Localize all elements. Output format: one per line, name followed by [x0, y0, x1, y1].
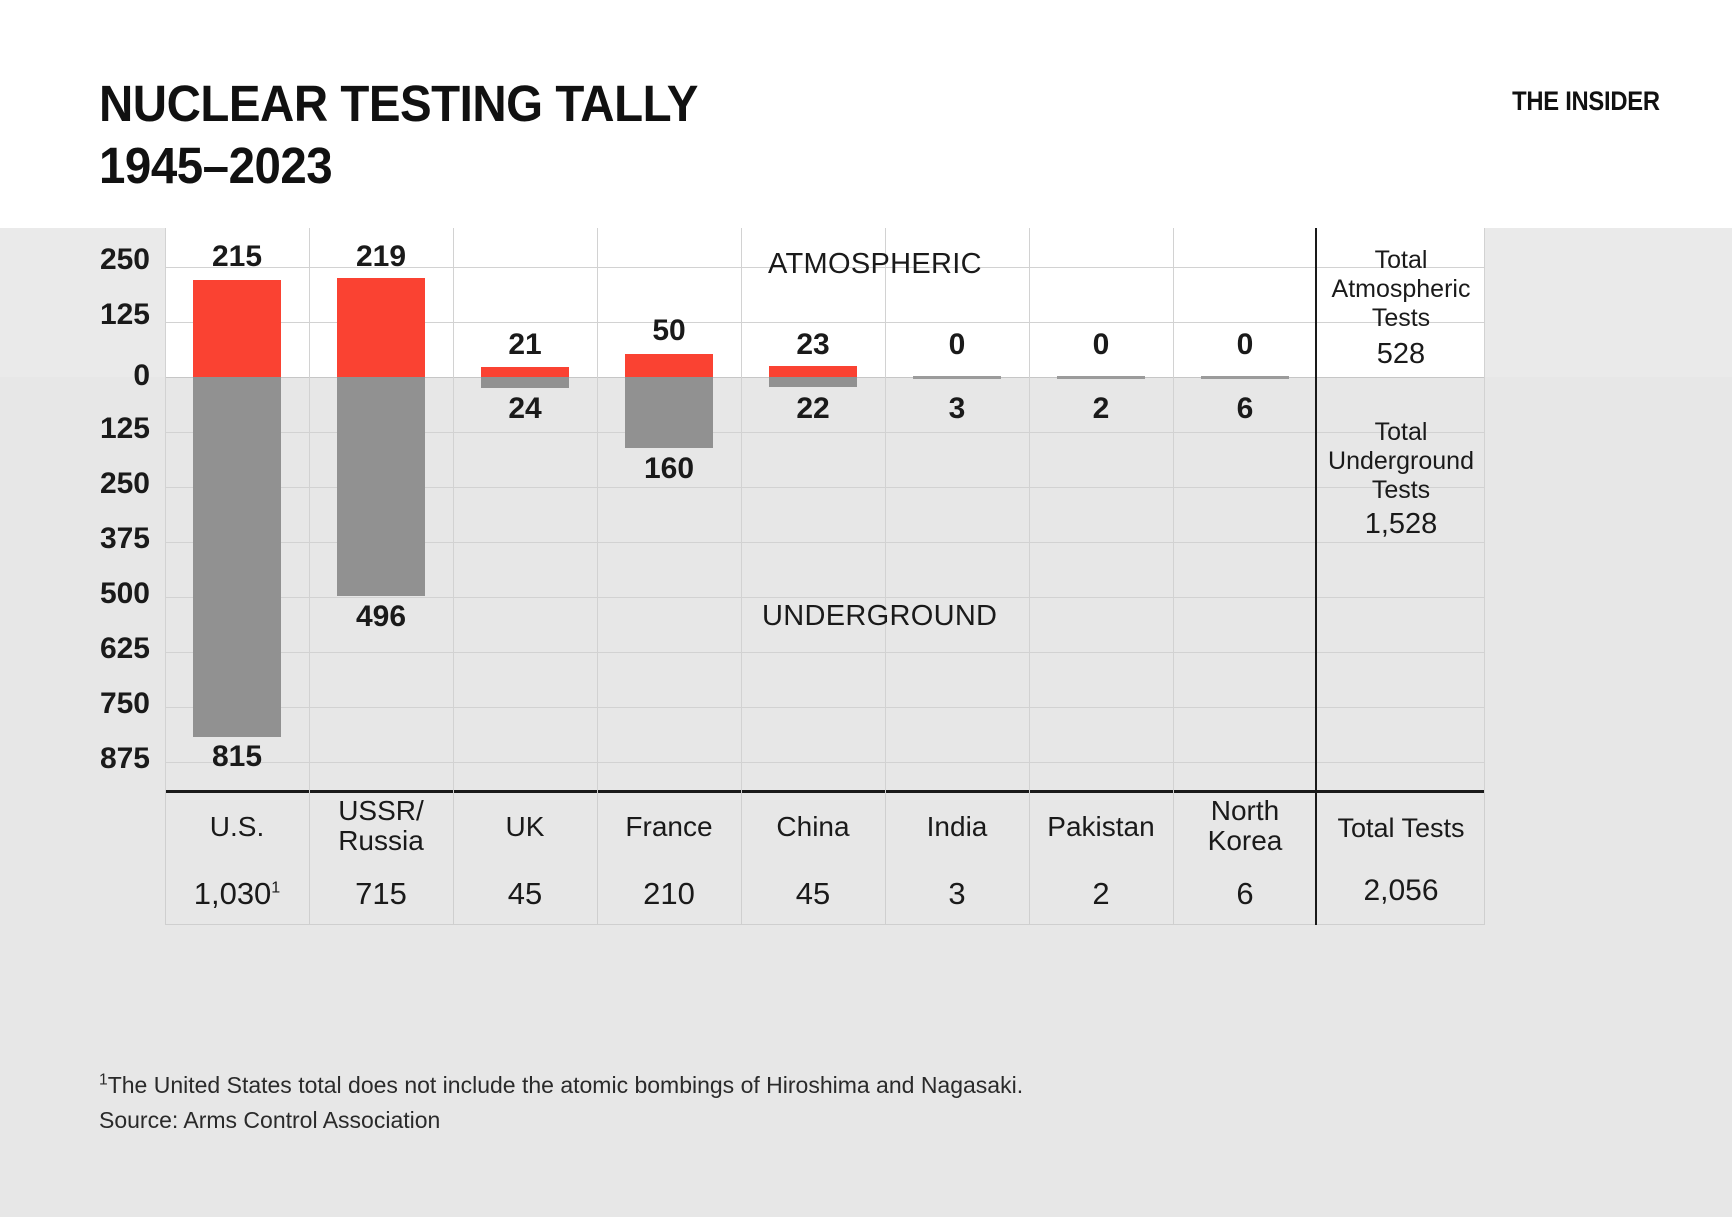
table-cell-india: India 3 — [885, 790, 1029, 925]
country-name: UK — [453, 812, 597, 842]
bar-atmospheric — [769, 366, 857, 377]
bar-label-underground: 3 — [885, 392, 1029, 426]
bar-group-france: 50 160 — [597, 228, 741, 790]
country-name: India — [885, 812, 1029, 842]
footnote-marker: 1 — [271, 879, 280, 897]
bar-zero-rule — [1057, 376, 1145, 379]
y-tick-label: 750 — [30, 687, 150, 721]
total-atmospheric-value: 528 — [1317, 338, 1485, 371]
bar-label-atmospheric: 21 — [453, 328, 597, 362]
country-total: 45 — [453, 876, 597, 912]
table-cell-china: China 45 — [741, 790, 885, 925]
country-total: 3 — [885, 876, 1029, 912]
country-total-value: 1,030 — [194, 876, 272, 911]
table-cell-france: France 210 — [597, 790, 741, 925]
bar-label-underground: 24 — [453, 392, 597, 426]
table-cell-total: Total Tests 2,056 — [1317, 790, 1485, 925]
bar-label-underground: 815 — [165, 740, 309, 774]
country-total: 210 — [597, 876, 741, 912]
footnote-block: 1The United States total does not includ… — [99, 1068, 1023, 1138]
bar-underground — [769, 377, 857, 387]
country-total: 45 — [741, 876, 885, 912]
y-tick-label: 875 — [30, 742, 150, 776]
bar-label-atmospheric: 0 — [1173, 328, 1317, 362]
country-totals-table: U.S. 1,0301 USSR/ Russia 715 UK 45 Franc… — [165, 790, 1485, 925]
y-tick-label: 250 — [30, 467, 150, 501]
bar-label-underground: 496 — [309, 600, 453, 634]
bar-label-underground: 6 — [1173, 392, 1317, 426]
y-tick-label: 500 — [30, 577, 150, 611]
country-name: North Korea — [1173, 796, 1317, 856]
page-title: NUCLEAR TESTING TALLY 1945–2023 — [99, 73, 698, 197]
country-total: 1,0301 — [165, 876, 309, 912]
table-cell-us: U.S. 1,0301 — [165, 790, 309, 925]
bar-group-north-korea: 0 6 — [1173, 228, 1317, 790]
bar-group-us: 215 815 — [165, 228, 309, 790]
bar-label-atmospheric: 23 — [741, 328, 885, 362]
bar-zero-rule — [913, 376, 1001, 379]
bar-group-ussr-russia: 219 496 — [309, 228, 453, 790]
total-atmospheric-label: Total Atmospheric Tests — [1317, 246, 1485, 333]
y-tick-label: 125 — [30, 412, 150, 446]
bar-label-atmospheric: 215 — [165, 240, 309, 274]
table-cell-ussr-russia: USSR/ Russia 715 — [309, 790, 453, 925]
bar-underground — [193, 377, 281, 737]
bar-atmospheric — [481, 367, 569, 377]
y-tick-label: 250 — [30, 243, 150, 277]
bar-group-pakistan: 0 2 — [1029, 228, 1173, 790]
bar-label-atmospheric: 0 — [885, 328, 1029, 362]
total-underground-value: 1,528 — [1317, 508, 1485, 541]
bar-atmospheric — [625, 354, 713, 377]
bar-atmospheric — [193, 280, 281, 377]
chart-plot-area: 215 815 219 496 21 24 50 160 23 22 0 3 0 — [165, 228, 1485, 790]
country-total: 715 — [309, 876, 453, 912]
y-tick-label: 375 — [30, 522, 150, 556]
bar-group-china: 23 22 — [741, 228, 885, 790]
annotation-underground: UNDERGROUND — [762, 600, 997, 633]
table-cell-uk: UK 45 — [453, 790, 597, 925]
publication-logo: THE INSIDER — [1512, 86, 1660, 117]
country-name: France — [597, 812, 741, 842]
y-tick-label: 625 — [30, 632, 150, 666]
y-tick-label: 0 — [30, 359, 150, 393]
table-cell-pakistan: Pakistan 2 — [1029, 790, 1173, 925]
y-tick-label: 125 — [30, 298, 150, 332]
country-name: China — [741, 812, 885, 842]
country-total: 6 — [1173, 876, 1317, 912]
footnote-text-1: The United States total does not include… — [108, 1072, 1023, 1098]
total-tests-label: Total Tests — [1317, 814, 1485, 843]
total-tests-value: 2,056 — [1317, 874, 1485, 908]
bar-zero-rule — [1201, 376, 1289, 379]
bar-group-india: 0 3 — [885, 228, 1029, 790]
bar-label-atmospheric: 219 — [309, 240, 453, 274]
bar-label-underground: 160 — [597, 452, 741, 486]
bar-group-uk: 21 24 — [453, 228, 597, 790]
total-underground-label: Total Underground Tests — [1317, 418, 1485, 505]
bar-atmospheric — [337, 278, 425, 377]
country-name: Pakistan — [1029, 812, 1173, 842]
country-name: USSR/ Russia — [309, 796, 453, 856]
bar-label-atmospheric: 50 — [597, 314, 741, 348]
bar-underground — [481, 377, 569, 388]
country-total: 2 — [1029, 876, 1173, 912]
bar-label-underground: 2 — [1029, 392, 1173, 426]
bar-label-underground: 22 — [741, 392, 885, 426]
annotation-atmospheric: ATMOSPHERIC — [768, 248, 982, 281]
footnote-line-1: 1The United States total does not includ… — [99, 1068, 1023, 1103]
footnote-line-2: Source: Arms Control Association — [99, 1103, 1023, 1138]
table-cell-north-korea: North Korea 6 — [1173, 790, 1317, 925]
footnote-marker: 1 — [99, 1071, 108, 1088]
country-name: U.S. — [165, 812, 309, 842]
bar-label-atmospheric: 0 — [1029, 328, 1173, 362]
bar-underground — [625, 377, 713, 448]
bar-underground — [337, 377, 425, 596]
